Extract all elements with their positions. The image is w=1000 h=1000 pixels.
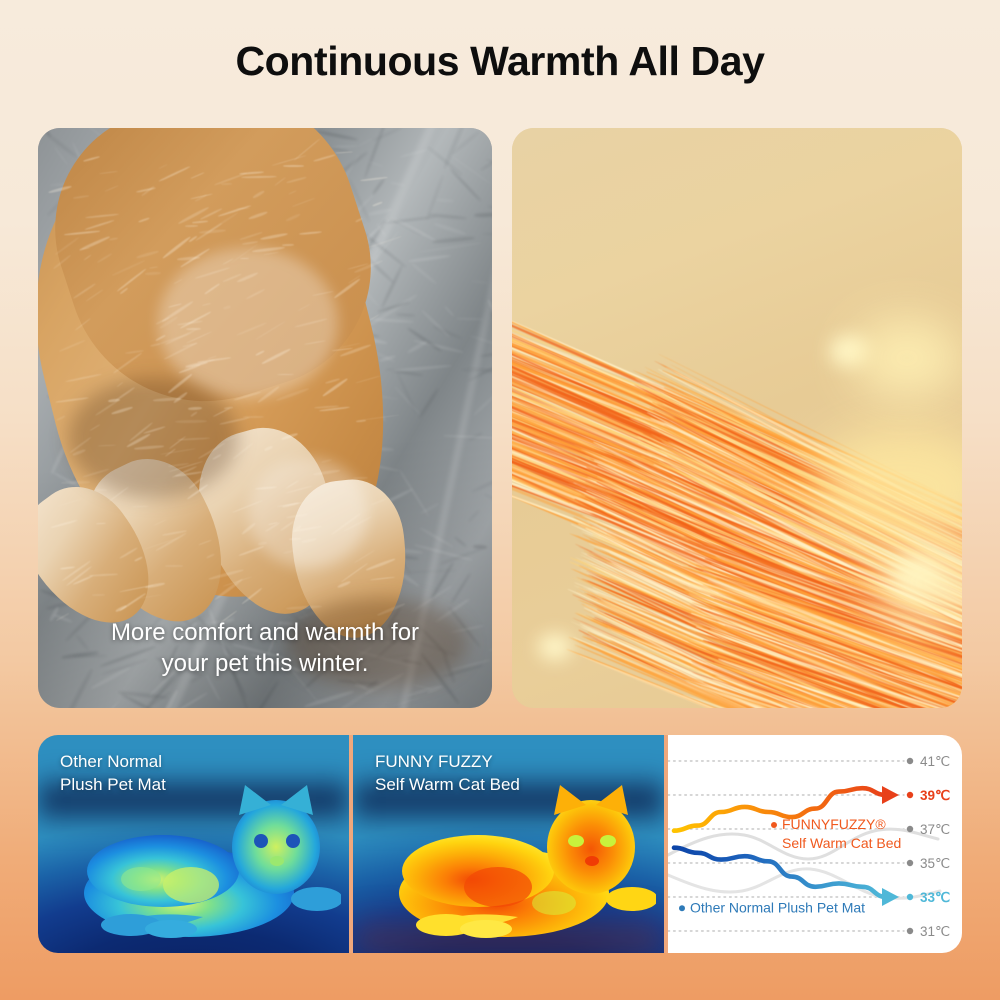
thermal-cat-warm [386,775,656,947]
legend-label-cool: Other Normal Plush Pet Mat [690,899,865,915]
thermal-warm-label-line1: FUNNY FUZZY [375,751,520,774]
chart-tick-label: 35℃ [920,856,950,871]
chart-tick-dot [907,826,913,832]
chart-tick-label: 33℃ [920,890,951,905]
chart-tick-label: 31℃ [920,924,950,939]
legend-bullet-warm [771,822,777,828]
chart-series-arrowhead [882,888,899,906]
chart-tick-dot [907,928,913,934]
chart-series-arrowhead [882,786,899,804]
thermal-panel-other-mat: Other Normal Plush Pet Mat [38,735,349,953]
paw-caption-line1: More comfort and warmth for [38,617,492,649]
temperature-comparison-chart: 41℃39℃37℃35℃33℃31℃ FUNNYFUZZY®Self Warm … [668,735,962,953]
thermal-comparison-row: Other Normal Plush Pet Mat [38,735,962,953]
legend-bullet-cool [679,905,685,911]
thermal-cool-label-line1: Other Normal [60,751,166,774]
legend-label-warm-line2: Self Warm Cat Bed [782,835,901,851]
chart-tick-label: 41℃ [920,754,950,769]
paw-caption: More comfort and warmth for your pet thi… [38,617,492,680]
chart-tick-label: 37℃ [920,822,950,837]
warm-fiber-panel: +°C [512,128,962,708]
thermal-panel-funnyfuzzy-bed: FUNNY FUZZY Self Warm Cat Bed [353,735,664,953]
chart-tick-dot [907,860,913,866]
page-title: Continuous Warmth All Day [0,38,1000,85]
chart-tick-dot [907,758,913,764]
dog-paw-photo-panel: More comfort and warmth for your pet thi… [38,128,492,708]
chart-canvas: 41℃39℃37℃35℃33℃31℃ FUNNYFUZZY®Self Warm … [668,735,962,953]
infographic-page: Continuous Warmth All Day More comfort a… [0,0,1000,1000]
chart-tick-label: 39℃ [920,788,951,803]
chart-tick-dot [907,792,913,798]
legend-label-warm-line1: FUNNYFUZZY® [782,816,886,832]
paw-caption-line2: your pet this winter. [38,648,492,680]
chart-tick-dot [907,894,913,900]
thermal-cat-cool [71,775,341,947]
